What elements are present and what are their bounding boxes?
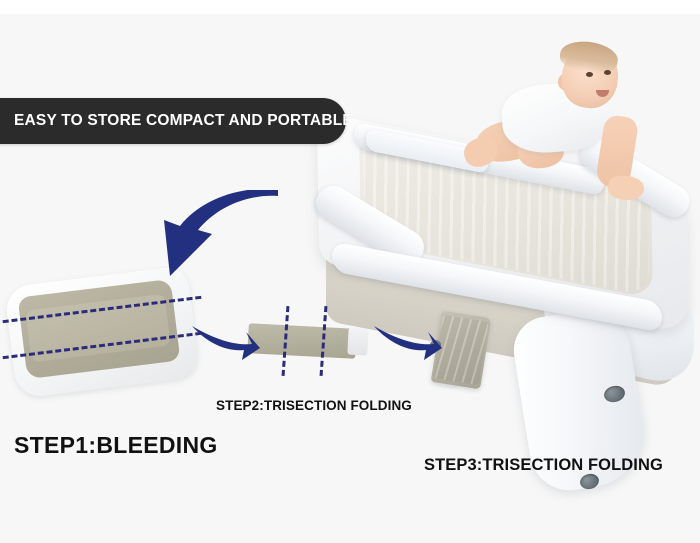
baby-hand: [607, 174, 645, 202]
headline-banner: EASY TO STORE COMPACT AND PORTABLE: [0, 98, 346, 144]
step3-caption: STEP3:TRISECTION FOLDING: [424, 456, 663, 475]
baby-eye: [586, 72, 593, 77]
arrow-step1-to-step2-icon: [190, 320, 260, 362]
headline-banner-text: EASY TO STORE COMPACT AND PORTABLE: [0, 112, 353, 130]
step2-caption: STEP2:TRISECTION FOLDING: [216, 398, 412, 413]
step1-caption: STEP1:BLEEDING: [14, 432, 218, 459]
step2-folded-strip: [247, 323, 356, 359]
step2-illustration: [248, 320, 370, 362]
baby-eye: [604, 70, 611, 75]
step2-strip-end: [347, 327, 368, 355]
arrow-step2-to-step3-icon: [372, 322, 442, 364]
arrow-bed-to-step1-icon: [150, 190, 280, 285]
baby-figure: [458, 40, 648, 220]
infographic-canvas: EASY TO STORE COMPACT AND PORTABLE STEP1…: [0, 0, 700, 543]
step1-illustration: [8, 272, 198, 392]
top-white-strip: [0, 0, 700, 14]
